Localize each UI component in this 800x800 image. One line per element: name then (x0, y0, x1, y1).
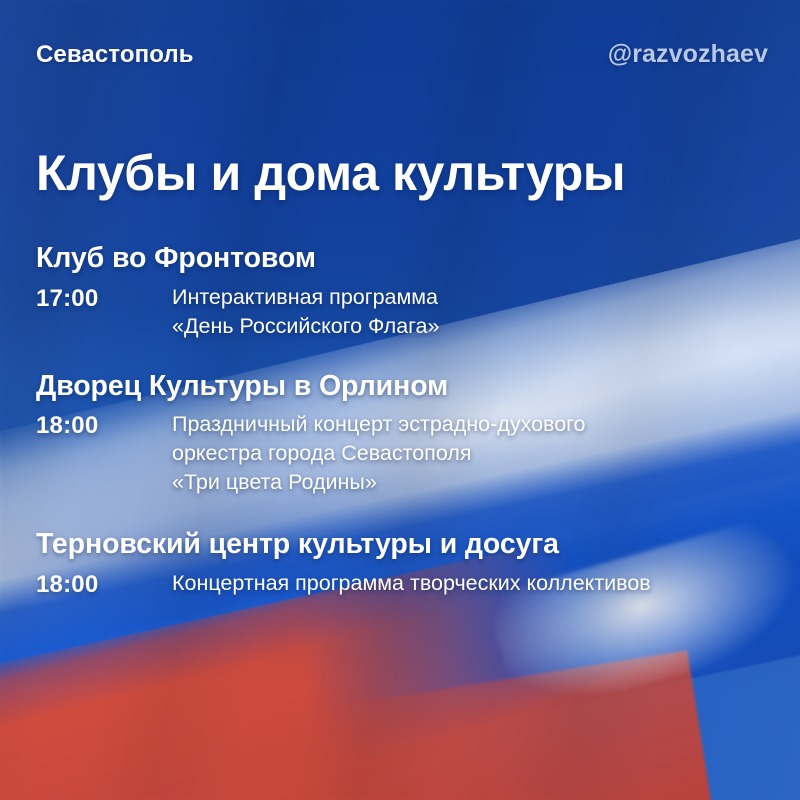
program-line: оркестра города Севастополя (172, 439, 786, 468)
poster-content: Севастополь @razvozhaev Клубы и дома кул… (0, 0, 800, 800)
venue-program: Интерактивная программа «День Российског… (172, 283, 786, 341)
page-title: Клубы и дома культуры (36, 148, 625, 199)
venue-schedule-row: 18:00 Концертная программа творческих ко… (36, 569, 786, 601)
program-line: «День Российского Флага» (172, 312, 786, 341)
venue-program: Концертная программа творческих коллекти… (172, 569, 786, 598)
venue-schedule-row: 17:00 Интерактивная программа «День Росс… (36, 283, 786, 341)
venue-item: Клуб во Фронтовом 17:00 Интерактивная пр… (36, 243, 786, 341)
venue-item: Дворец Культуры в Орлином 18:00 Празднич… (36, 371, 786, 497)
venue-time: 17:00 (36, 283, 172, 315)
venue-program: Праздничный концерт эстрадно-духового ор… (172, 410, 786, 496)
venue-item: Терновский центр культуры и досуга 18:00… (36, 529, 786, 601)
venue-name: Терновский центр культуры и досуга (36, 529, 786, 561)
social-handle: @razvozhaev (608, 40, 768, 69)
program-line: Концертная программа творческих коллекти… (172, 569, 786, 598)
header-bar: Севастополь @razvozhaev (36, 40, 768, 69)
venue-name: Дворец Культуры в Орлином (36, 371, 786, 403)
venue-schedule-row: 18:00 Праздничный концерт эстрадно-духов… (36, 410, 786, 496)
program-line: Интерактивная программа (172, 283, 786, 312)
program-line: Праздничный концерт эстрадно-духового (172, 410, 786, 439)
poster: Севастополь @razvozhaev Клубы и дома кул… (0, 0, 800, 800)
venue-time: 18:00 (36, 410, 172, 442)
brand-label: Севастополь (36, 41, 194, 69)
venue-name: Клуб во Фронтовом (36, 243, 786, 275)
program-line: «Три цвета Родины» (172, 468, 786, 497)
venue-time: 18:00 (36, 569, 172, 601)
venue-list: Клуб во Фронтовом 17:00 Интерактивная пр… (36, 243, 786, 601)
